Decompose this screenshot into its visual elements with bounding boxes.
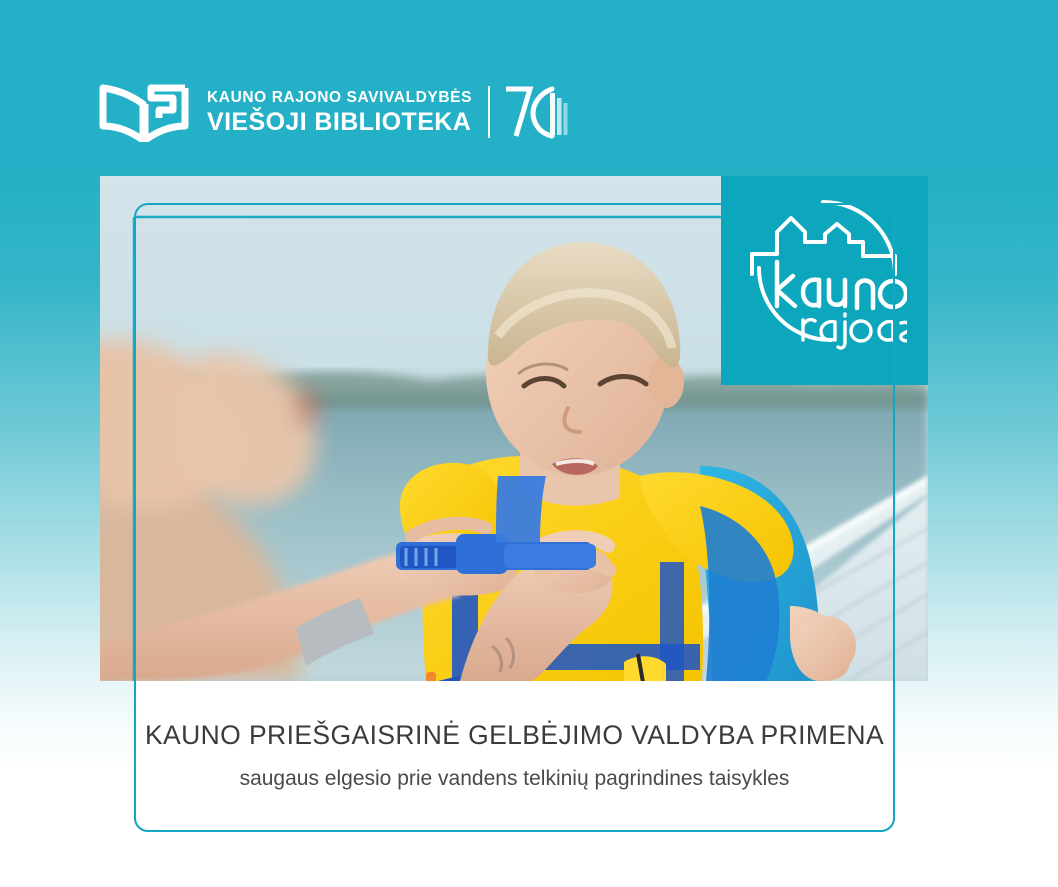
library-wordmark: KAUNO RAJONO SAVIVALDYBĖS VIEŠOJI BIBLIO… <box>207 90 472 135</box>
kauno-rajonas-skyline-icon <box>747 190 907 365</box>
caption-subtitle: saugaus elgesio prie vandens telkinių pa… <box>240 767 790 791</box>
org-line-1: KAUNO RAJONO SAVIVALDYBĖS <box>207 89 472 106</box>
caption-title: KAUNO PRIEŠGAISRINĖ GELBĖJIMO VALDYBA PR… <box>145 720 884 751</box>
poster-canvas: KAUNO RAJONO SAVIVALDYBĖS VIEŠOJI BIBLIO… <box>0 0 1058 887</box>
library-logo: KAUNO RAJONO SAVIVALDYBĖS VIEŠOJI BIBLIO… <box>99 82 568 142</box>
org-line-2: VIEŠOJI BIBLIOTEKA <box>207 110 472 135</box>
open-book-icon <box>99 82 195 142</box>
anniversary-70-icon <box>504 84 568 140</box>
kauno-rajonas-logo-panel <box>721 176 928 385</box>
logo-divider <box>488 86 490 138</box>
caption-card: KAUNO PRIEŠGAISRINĖ GELBĖJIMO VALDYBA PR… <box>134 681 895 832</box>
